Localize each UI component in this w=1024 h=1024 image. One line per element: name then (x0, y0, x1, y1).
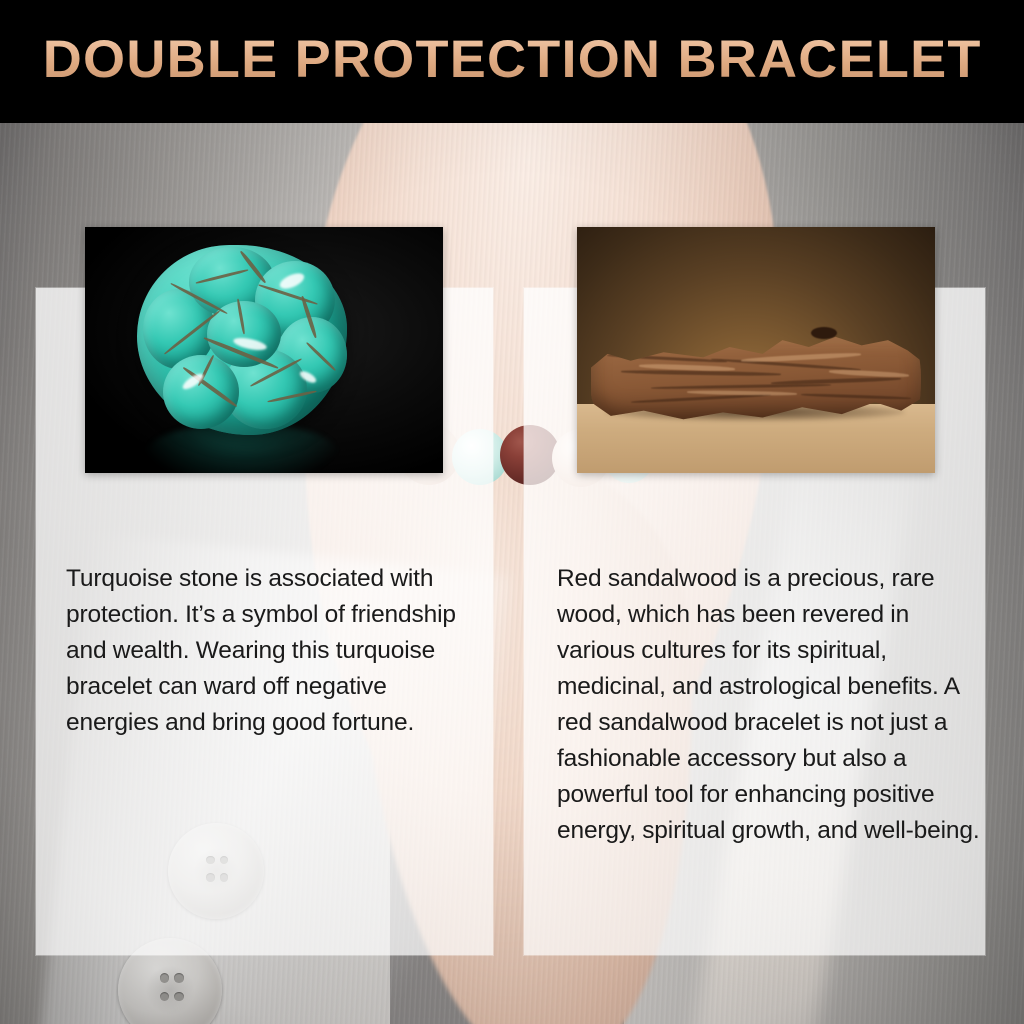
turquoise-photo-backdrop (85, 227, 443, 473)
turquoise-description: Turquoise stone is associated with prote… (66, 561, 480, 741)
sandalwood-photo-backdrop (577, 227, 935, 473)
turquoise-stone-photo (85, 227, 443, 473)
red-sandalwood-description: Red sandalwood is a precious, rare wood,… (557, 561, 981, 849)
page-title: DOUBLE PROTECTION BRACELET (43, 33, 982, 90)
red-sandalwood-photo (577, 227, 935, 473)
wood-knot-hole (811, 327, 837, 339)
infographic-canvas: Turquoise stone is associated with prote… (0, 0, 1024, 1024)
header-banner: DOUBLE PROTECTION BRACELET (0, 0, 1024, 123)
turquoise-nugget (137, 245, 347, 435)
